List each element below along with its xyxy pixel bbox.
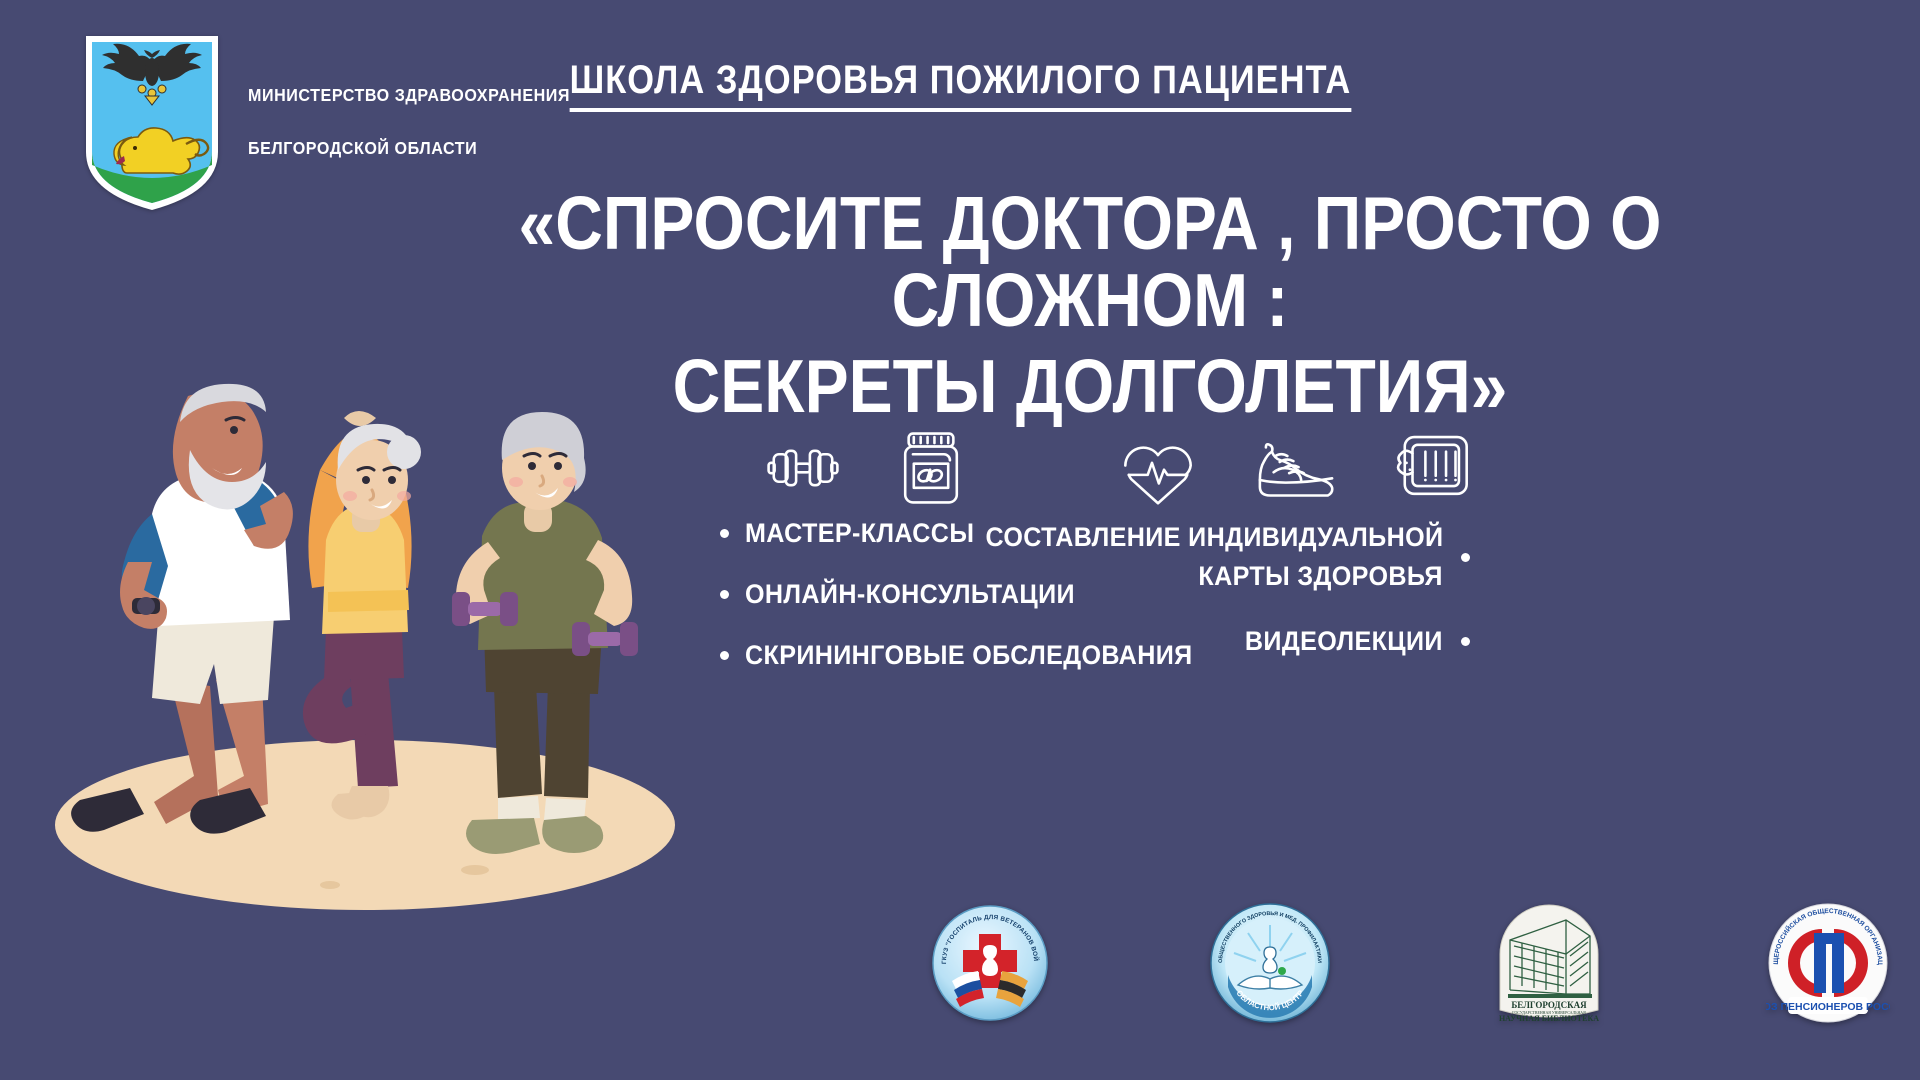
pensioners-union-of-russia-logo: ОБЩЕРОССИЙСКАЯ ОБЩЕСТВЕННАЯ ОРГАНИЗАЦИЯ … [1766, 901, 1890, 1025]
pill-blister-pack-icon [1391, 425, 1477, 511]
service-label-line-1: СОСТАВЛЕНИЕ ИНДИВИДУАЛЬНОЙ [985, 518, 1443, 557]
heart-pulse-icon [1115, 425, 1201, 511]
icon-group-left [760, 425, 974, 511]
svg-text:СОЮЗ ПЕНСИОНЕРОВ РОССИИ: СОЮЗ ПЕНСИОНЕРОВ РОССИИ [1766, 1001, 1890, 1013]
header: ШКОЛА ЗДОРОВЬЯ ПОЖИЛОГО ПАЦИЕНТА [0, 58, 1920, 112]
service-label: МАСТЕР-КЛАССЫ [745, 518, 974, 549]
three-seniors-exercising-illustration [20, 300, 700, 920]
bullet-dot-icon [1461, 553, 1470, 562]
dumbbell-icon [760, 425, 846, 511]
service-item: ВИДЕОЛЕКЦИИ [1020, 626, 1470, 657]
bullet-dot-icon [1461, 637, 1470, 646]
bullet-dot-icon [720, 529, 729, 538]
bullet-dot-icon [720, 590, 729, 599]
svg-text:БЕЛГОРОДСКАЯ: БЕЛГОРОДСКАЯ [1511, 1000, 1587, 1010]
sneaker-icon [1253, 425, 1339, 511]
service-item: СОСТАВЛЕНИЕ ИНДИВИДУАЛЬНОЙ КАРТЫ ЗДОРОВЬ… [1020, 518, 1470, 596]
ministry-line-2: БЕЛГОРОДСКОЙ ОБЛАСТИ [248, 135, 570, 161]
pill-bottle-icon [888, 425, 974, 511]
icon-group-right [1115, 425, 1477, 511]
veterans-hospital-logo: ОГКУЗ "ГОСПИТАЛЬ ДЛЯ ВЕТЕРАНОВ ВОЙН" [930, 903, 1050, 1023]
services-list-right: СОСТАВЛЕНИЕ ИНДИВИДУАЛЬНОЙ КАРТЫ ЗДОРОВЬ… [1020, 518, 1470, 687]
header-title: ШКОЛА ЗДОРОВЬЯ ПОЖИЛОГО ПАЦИЕНТА [569, 58, 1351, 112]
partner-logos: ОГКУЗ "ГОСПИТАЛЬ ДЛЯ ВЕТЕРАНОВ ВОЙН" [930, 888, 1890, 1038]
regional-health-center-logo: ОБЛАСТНОЙ ЦЕНТР ОБЩЕСТВЕННОГО ЗДОРОВЬЯ И… [1208, 901, 1332, 1025]
service-label-line-2: КАРТЫ ЗДОРОВЬЯ [1199, 557, 1443, 596]
svg-text:НАУЧНАЯ БИБЛИОТЕКА: НАУЧНАЯ БИБЛИОТЕКА [1499, 1014, 1599, 1023]
belgorod-scientific-library-logo: БЕЛГОРОДСКАЯ ГОСУДАРСТВЕННАЯ УНИВЕРСАЛЬН… [1490, 902, 1608, 1024]
bullet-dot-icon [720, 651, 729, 660]
service-label: ВИДЕОЛЕКЦИИ [1245, 626, 1443, 657]
poster-root: МИНИСТЕРСТВО ЗДРАВООХРАНЕНИЯ БЕЛГОРОДСКО… [0, 0, 1920, 1080]
